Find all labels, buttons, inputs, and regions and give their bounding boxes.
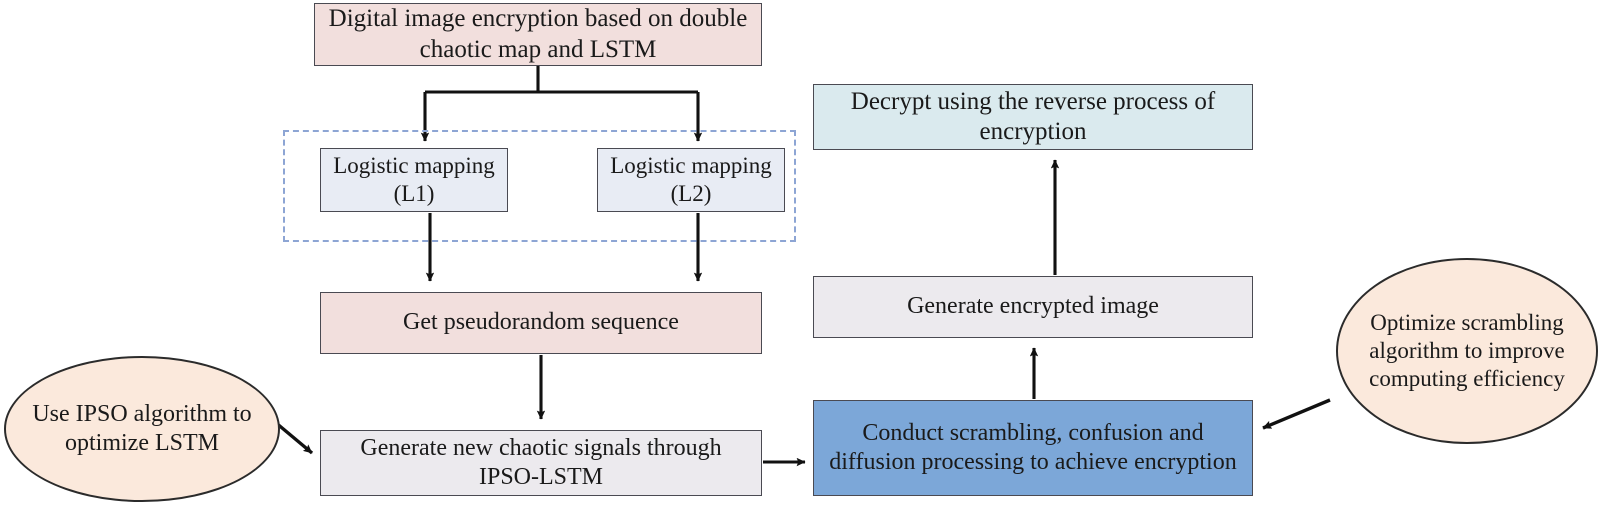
node-get-pseudorandom-sequence-label: Get pseudorandom sequence: [321, 308, 761, 337]
node-generate-new-chaotic-signals-label: Generate new chaotic signals through IPS…: [321, 434, 761, 493]
edge-optimize-conduct: [1263, 400, 1330, 428]
node-generate-new-chaotic-signals[interactable]: Generate new chaotic signals through IPS…: [320, 430, 762, 496]
node-decrypt-reverse-process-label: Decrypt using the reverse process of enc…: [814, 87, 1252, 148]
node-generate-encrypted-image[interactable]: Generate encrypted image: [813, 276, 1253, 338]
node-use-ipso-algorithm-label: Use IPSO algorithm to optimize LSTM: [6, 400, 278, 459]
node-use-ipso-algorithm[interactable]: Use IPSO algorithm to optimize LSTM: [4, 356, 280, 502]
node-logistic-mapping-l1-label: Logistic mapping (L1): [321, 152, 507, 208]
node-decrypt-reverse-process[interactable]: Decrypt using the reverse process of enc…: [813, 84, 1253, 150]
node-logistic-mapping-l2[interactable]: Logistic mapping (L2): [597, 148, 785, 212]
node-title-label: Digital image encryption based on double…: [315, 4, 761, 65]
node-optimize-scrambling-algorithm-label: Optimize scrambling algorithm to improve…: [1338, 309, 1596, 393]
node-optimize-scrambling-algorithm[interactable]: Optimize scrambling algorithm to improve…: [1336, 258, 1598, 444]
node-logistic-mapping-l2-label: Logistic mapping (L2): [598, 152, 784, 208]
node-logistic-mapping-l1[interactable]: Logistic mapping (L1): [320, 148, 508, 212]
flowchart-canvas: Digital image encryption based on double…: [0, 0, 1601, 505]
node-conduct-scrambling-confusion-diffusion-label: Conduct scrambling, confusion and diffus…: [814, 419, 1252, 478]
node-title[interactable]: Digital image encryption based on double…: [314, 3, 762, 66]
node-get-pseudorandom-sequence[interactable]: Get pseudorandom sequence: [320, 292, 762, 354]
node-generate-encrypted-image-label: Generate encrypted image: [814, 292, 1252, 321]
node-conduct-scrambling-confusion-diffusion[interactable]: Conduct scrambling, confusion and diffus…: [813, 400, 1253, 496]
